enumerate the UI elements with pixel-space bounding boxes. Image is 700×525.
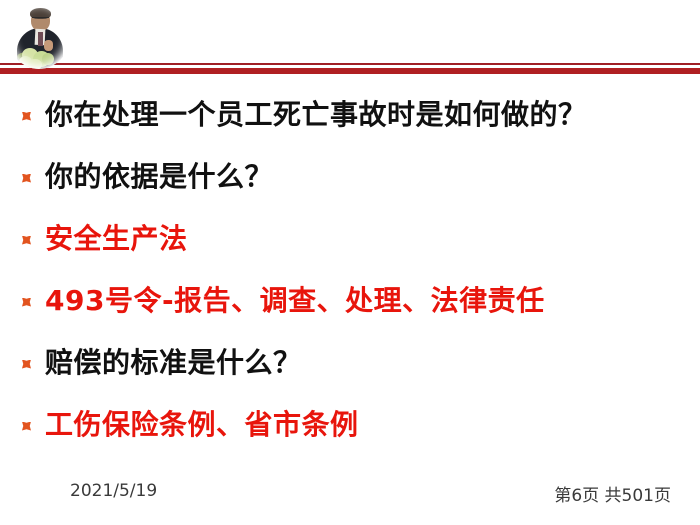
bullet-item: 工伤保险条例、省市条例 <box>0 394 700 456</box>
bullet-item-label: 你在处理一个员工死亡事故时是如何做的？ <box>45 100 587 131</box>
bullet-item-label: 493号令-报告、调查、处理、法律责任 <box>45 286 545 317</box>
bullet-item: 你在处理一个员工死亡事故时是如何做的？ <box>0 84 700 146</box>
bullet-item-label: 赔偿的标准是什么？ <box>45 348 302 379</box>
slide-canvas: 你在处理一个员工死亡事故时是如何做的？ 你的依据是什么？ 安全生产法 493号令… <box>0 0 700 525</box>
bullet-marker-icon <box>22 112 31 121</box>
bullet-item-label: 你的依据是什么？ <box>45 162 273 193</box>
header-divider-thick-rule <box>0 68 700 74</box>
footer-date: 2021/5/19 <box>70 481 157 501</box>
bullet-item: 你的依据是什么？ <box>0 146 700 208</box>
bullet-item-label: 工伤保险条例、省市条例 <box>45 410 359 441</box>
footer-pagination: 第6页 共501页 <box>554 481 671 506</box>
bullet-item: 493号令-报告、调查、处理、法律责任 <box>0 270 700 332</box>
bullet-list: 你在处理一个员工死亡事故时是如何做的？ 你的依据是什么？ 安全生产法 493号令… <box>0 84 700 456</box>
bullet-marker-icon <box>22 360 31 369</box>
bullet-item-label: 安全生产法 <box>45 224 188 255</box>
bullet-item: 赔偿的标准是什么？ <box>0 332 700 394</box>
portrait-vignette <box>8 1 70 69</box>
bullet-item: 安全生产法 <box>0 208 700 270</box>
slide-header <box>0 0 700 70</box>
bullet-marker-icon <box>22 298 31 307</box>
bullet-marker-icon <box>22 236 31 245</box>
bullet-marker-icon <box>22 174 31 183</box>
bullet-marker-icon <box>22 422 31 431</box>
slide-footer: 2021/5/19 第6页 共501页 <box>0 478 700 512</box>
speaker-portrait-photo <box>8 1 70 69</box>
